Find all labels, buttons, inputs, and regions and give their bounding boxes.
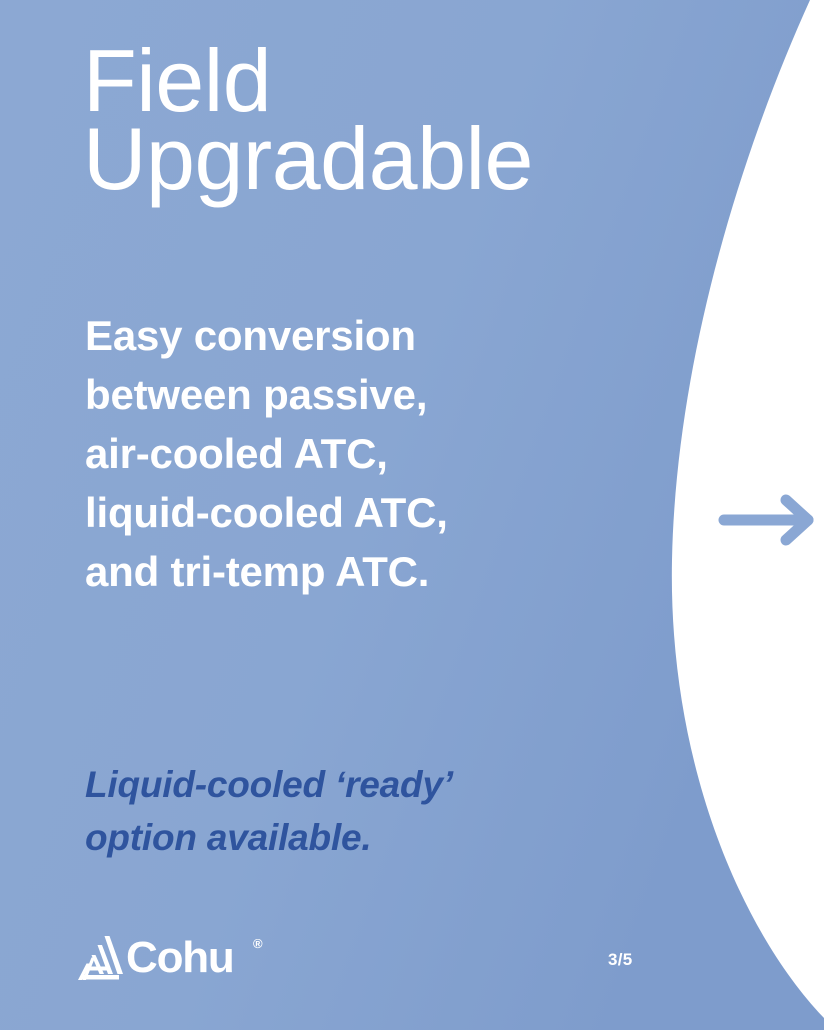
page-indicator: 3/5	[608, 950, 633, 970]
slide-content: Field Upgradable Easy conversion between…	[0, 0, 824, 1030]
arrow-right-icon[interactable]	[716, 492, 820, 548]
registered-trademark-symbol: ®	[253, 936, 263, 951]
slide-canvas: Field Upgradable Easy conversion between…	[0, 0, 824, 1030]
logo-wordmark: Cohu	[126, 936, 234, 980]
brand-logo: Cohu	[78, 936, 234, 980]
highlight-note: Liquid-cooled ‘ready’ option available.	[85, 758, 645, 864]
page-title: Field Upgradable	[83, 42, 643, 198]
cohu-triangle-mark-icon	[78, 936, 124, 980]
body-description: Easy conversion between passive, air-coo…	[85, 306, 625, 601]
